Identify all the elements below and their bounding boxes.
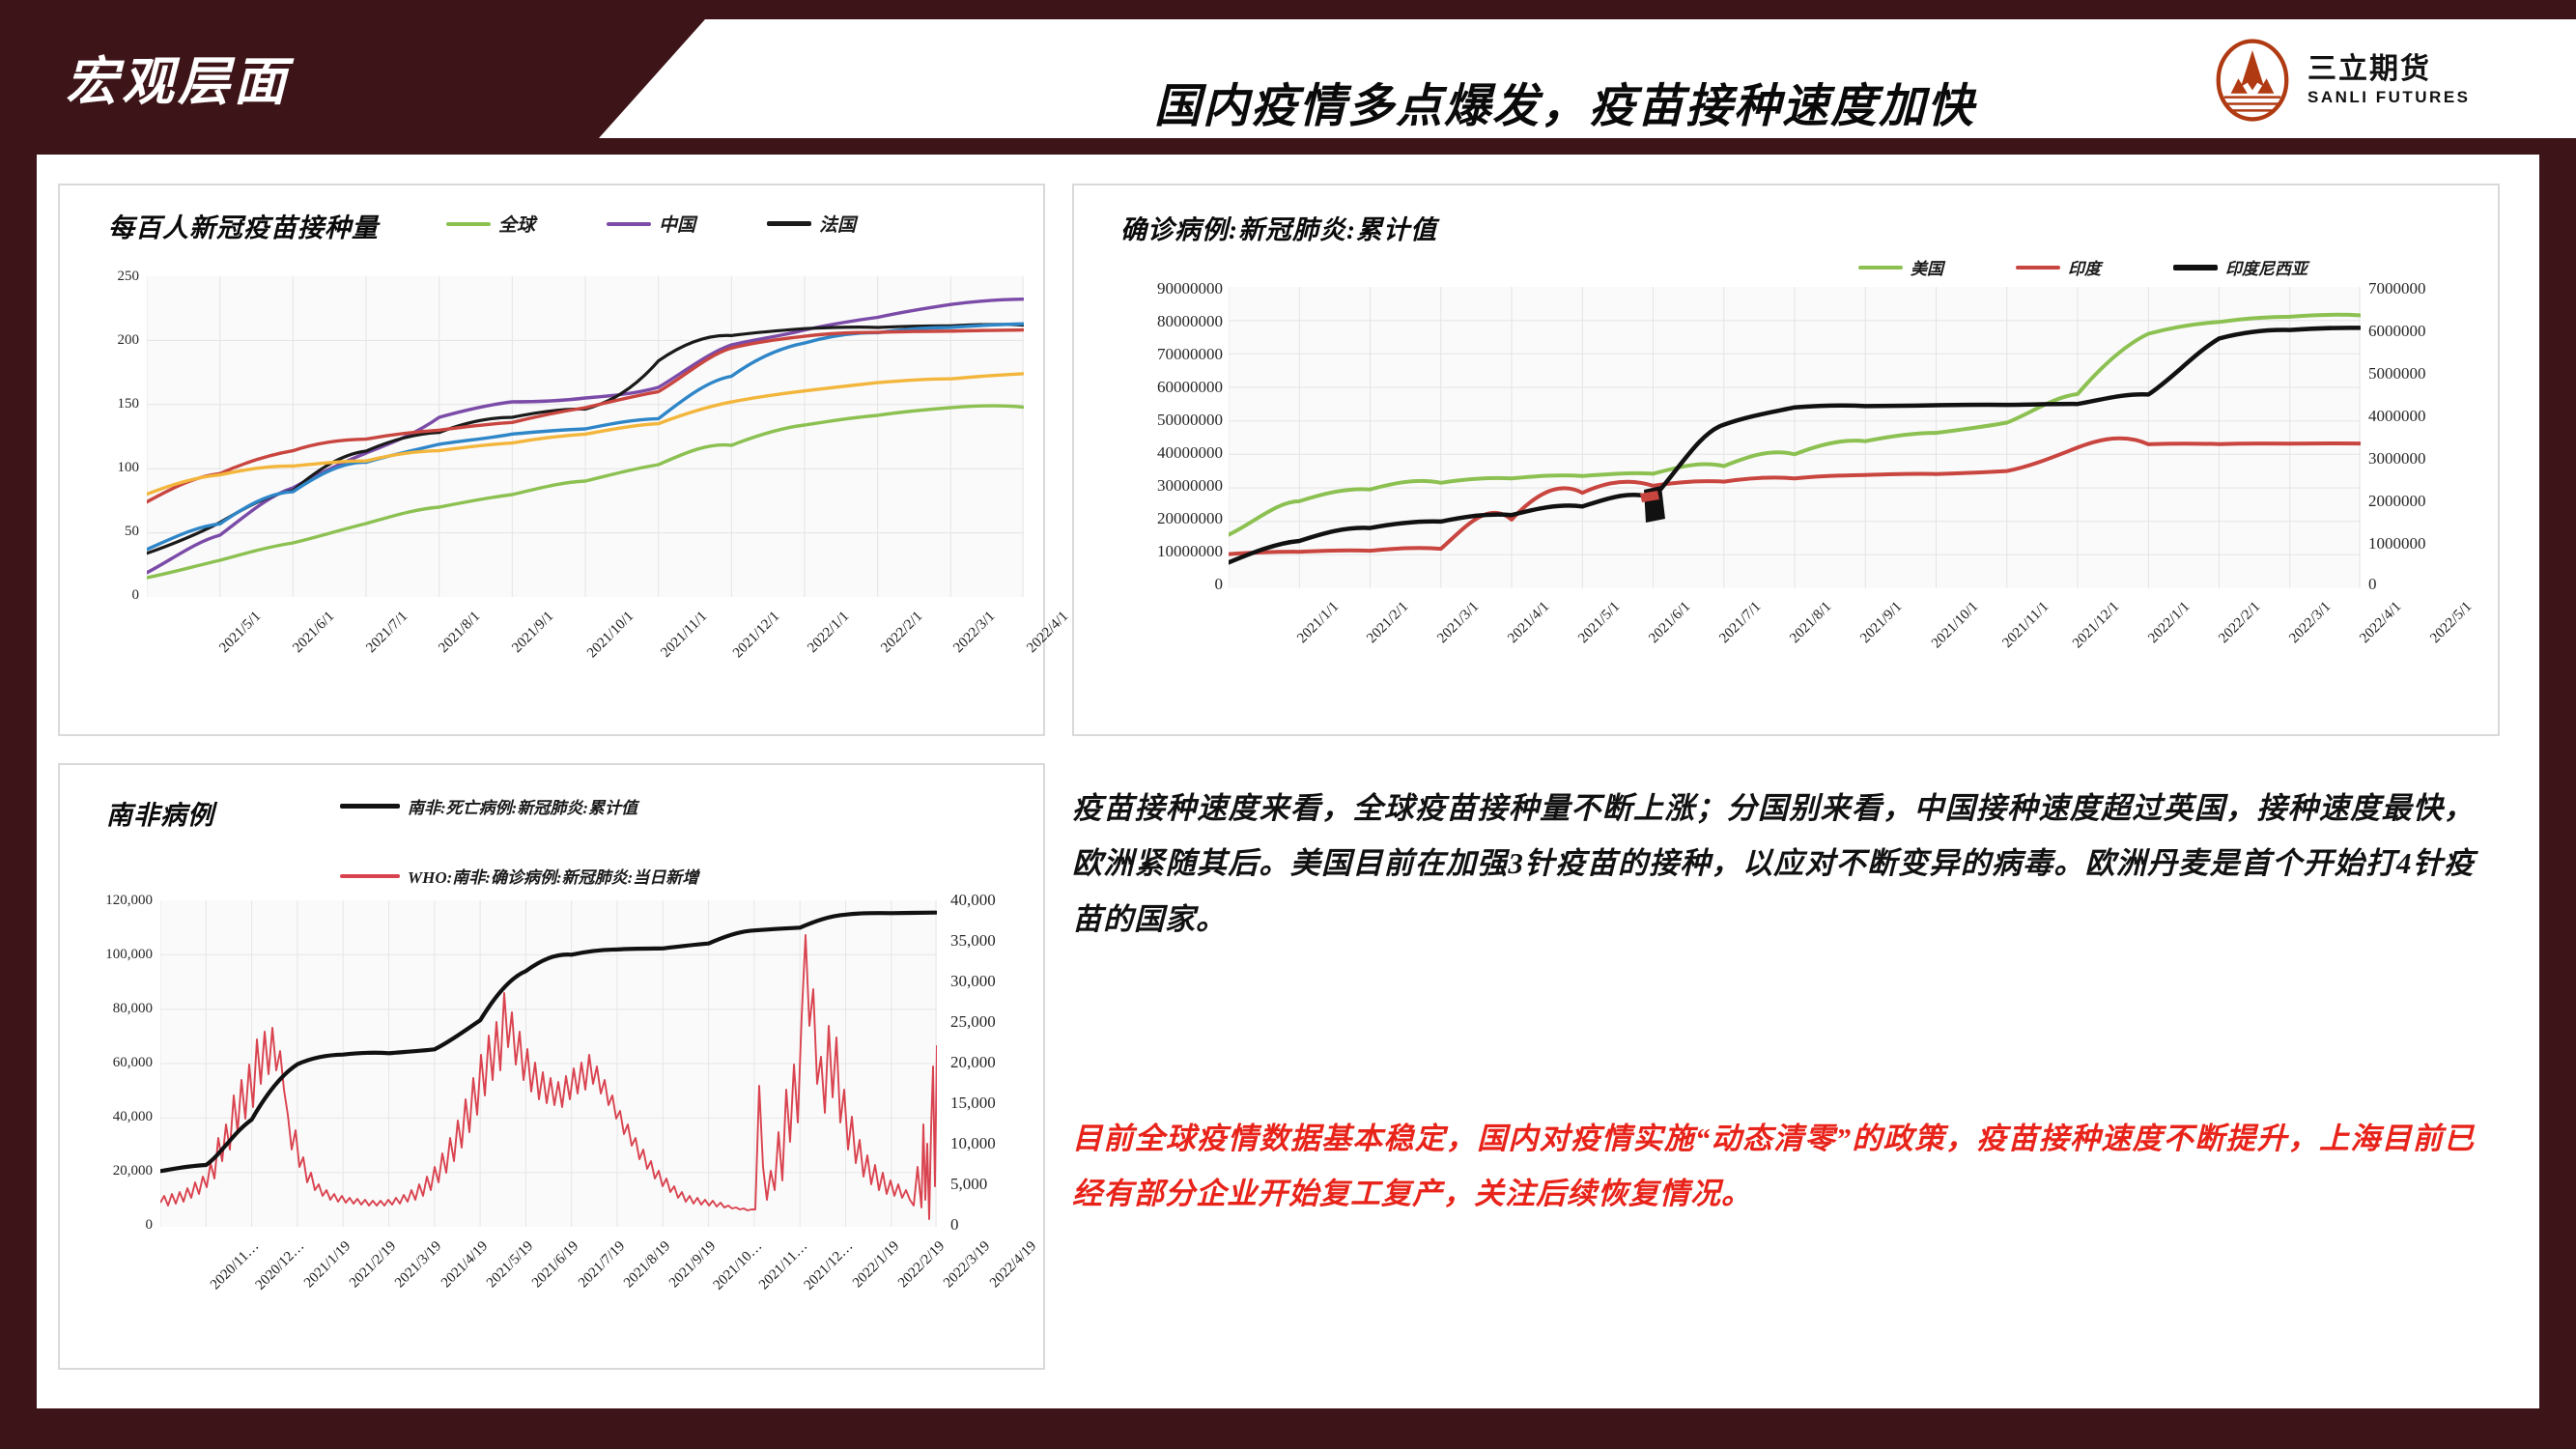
legend-swatch-icon	[340, 804, 400, 809]
ytick-label: 60000000	[1080, 378, 1223, 397]
legend-item-confirmed-2[interactable]: 印度尼西亚	[2173, 255, 2307, 279]
ytick2-label: 6000000	[2368, 322, 2426, 341]
ytick-label: 120,000	[60, 893, 153, 909]
legend-swatch-icon	[2016, 266, 2060, 270]
ytick2-label: 1000000	[2368, 534, 2426, 554]
ytick-label: 0	[1080, 575, 1223, 594]
ytick-label: 30000000	[1080, 476, 1223, 496]
ytick2-label: 30,000	[950, 972, 996, 991]
chart-title-south-africa: 南非病例	[106, 794, 214, 832]
ytick-label: 10000000	[1080, 542, 1223, 561]
chart-panel-vaccine: 每百人新冠疫苗接种量 全球 中国 法国 德国 英国 美国 250 200 150	[58, 184, 1045, 736]
ytick-label: 50	[79, 524, 139, 540]
ytick2-label: 5000000	[2368, 364, 2426, 384]
ytick-label: 80,000	[60, 1001, 153, 1017]
commentary-paragraph-black: 疫苗接种速度来看，全球疫苗接种量不断上涨；分国别来看，中国接种速度超过英国，接种…	[1072, 781, 2475, 947]
legend-item-vaccine-1[interactable]: 中国	[607, 211, 695, 237]
plot-area-vaccine	[147, 276, 1024, 597]
ytick-label: 0	[79, 587, 139, 604]
ytick2-label: 5,000	[950, 1175, 987, 1194]
chart-title-vaccine: 每百人新冠疫苗接种量	[108, 207, 379, 244]
commentary-paragraph-red: 目前全球疫情数据基本稳定，国内对疫情实施“动态清零”的政策，疫苗接种速度不断提升…	[1072, 1111, 2475, 1222]
ytick-label: 40000000	[1080, 443, 1223, 463]
ytick2-label: 3000000	[2368, 449, 2426, 469]
ytick2-label: 25,000	[950, 1012, 996, 1032]
legend-label: 法国	[819, 211, 856, 237]
ytick2-label: 35,000	[950, 931, 996, 951]
legend-label: 南非:死亡病例:新冠肺炎:累计值	[408, 794, 637, 818]
chart-panel-confirmed: 确诊病例:新冠肺炎:累计值 美国 印度 印度尼西亚 90000000 80000…	[1072, 184, 2500, 736]
ytick-label: 200	[79, 332, 139, 349]
ytick-label: 150	[79, 396, 139, 412]
legend-label: 美国	[1911, 255, 1943, 279]
ytick-label: 250	[79, 269, 139, 285]
page-title: 国内疫情多点爆发，疫苗接种速度加快	[792, 68, 2337, 135]
ytick2-label: 40,000	[950, 891, 996, 910]
legend-label: 中国	[659, 211, 695, 237]
ytick-label: 90000000	[1080, 279, 1223, 298]
legend-swatch-icon	[1858, 266, 1903, 270]
legend-item-confirmed-1[interactable]: 印度	[2016, 255, 2101, 279]
ytick2-label: 10,000	[950, 1134, 996, 1153]
legend-item-confirmed-0[interactable]: 美国	[1858, 255, 1943, 279]
legend-label: 全球	[498, 211, 535, 237]
ytick-label: 50000000	[1080, 411, 1223, 430]
sanli-mountain-icon	[2211, 39, 2294, 122]
section-label: 宏观层面	[66, 39, 290, 115]
ytick-label: 0	[60, 1217, 153, 1234]
plot-area-confirmed	[1229, 287, 2361, 588]
legend-label: 印度	[2068, 255, 2101, 279]
legend-label: 印度尼西亚	[2225, 255, 2307, 279]
legend-item-vaccine-2[interactable]: 法国	[767, 211, 856, 237]
ytick2-label: 2000000	[2368, 492, 2426, 511]
title-banner: 国内疫情多点爆发，疫苗接种速度加快 三立期货 SANLI FUTURES	[599, 19, 2576, 138]
ytick2-label: 4000000	[2368, 407, 2426, 426]
plot-area-south-africa	[160, 900, 937, 1227]
legend-swatch-icon	[607, 222, 651, 226]
ytick-label: 100,000	[60, 947, 153, 963]
ytick-label: 70000000	[1080, 345, 1223, 364]
ytick-label: 20,000	[60, 1163, 153, 1179]
ytick-label: 80000000	[1080, 312, 1223, 331]
ytick2-label: 0	[950, 1215, 959, 1235]
legend-swatch-icon	[340, 874, 400, 878]
slide-root: { "header": { "section_label": "宏观层面", "…	[0, 0, 2576, 1449]
legend-item-sa-1[interactable]: WHO:南非:确诊病例:新冠肺炎:当日新增	[340, 864, 698, 888]
content-sheet: 每百人新冠疫苗接种量 全球 中国 法国 德国 英国 美国 250 200 150	[37, 155, 2539, 1408]
brand-text: 三立期货 SANLI FUTURES	[2307, 53, 2471, 107]
slide-header: 宏观层面 国内疫情多点爆发，疫苗接种速度加快 三立期货 SANLI FUTURE…	[0, 0, 2576, 155]
chart-title-confirmed: 确诊病例:新冠肺炎:累计值	[1120, 209, 1437, 246]
legend-swatch-icon	[767, 221, 811, 226]
brand-name-cn: 三立期货	[2307, 53, 2471, 85]
ytick2-label: 15,000	[950, 1094, 996, 1113]
ytick-label: 40,000	[60, 1109, 153, 1125]
ytick-label: 20000000	[1080, 509, 1223, 528]
legend-item-sa-0[interactable]: 南非:死亡病例:新冠肺炎:累计值	[340, 794, 637, 818]
brand-logo: 三立期货 SANLI FUTURES	[2211, 37, 2501, 124]
legend-label: WHO:南非:确诊病例:新冠肺炎:当日新增	[408, 864, 698, 888]
ytick-label: 100	[79, 460, 139, 476]
brand-name-en: SANLI FUTURES	[2307, 88, 2471, 107]
legend-swatch-icon	[446, 222, 491, 226]
legend-item-vaccine-0[interactable]: 全球	[446, 211, 535, 237]
ytick-label: 60,000	[60, 1055, 153, 1071]
ytick2-label: 7000000	[2368, 279, 2426, 298]
ytick2-label: 0	[2368, 575, 2377, 594]
legend-swatch-icon	[2173, 265, 2218, 270]
chart-panel-south-africa: 南非病例 南非:死亡病例:新冠肺炎:累计值 WHO:南非:确诊病例:新冠肺炎:当…	[58, 763, 1045, 1370]
ytick2-label: 20,000	[950, 1053, 996, 1072]
